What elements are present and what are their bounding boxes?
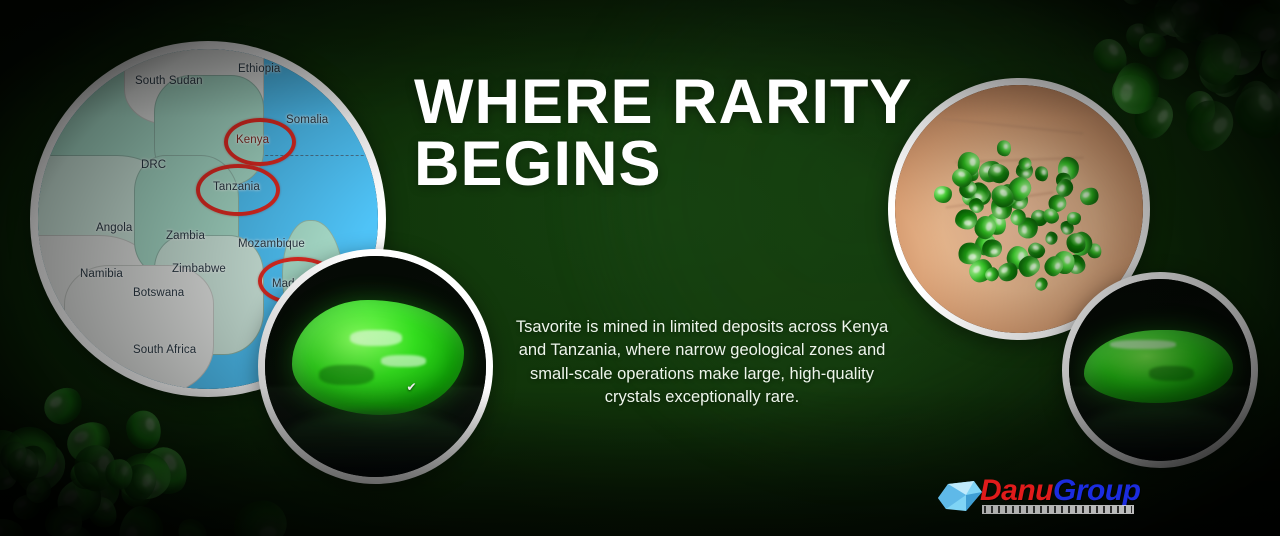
brand-logo[interactable]: DanuGroup <box>936 472 1136 528</box>
logo-name-part1: Danu <box>980 474 1053 507</box>
logo-name-part2: Group <box>1053 474 1141 507</box>
promo-banner: South SudanEthiopiaSomaliaKenyaDRCTanzan… <box>0 0 1280 536</box>
gem-icon <box>936 478 986 514</box>
logo-tagline-text <box>984 506 1132 513</box>
logo-tagline-strip <box>982 505 1134 514</box>
body-paragraph: Tsavorite is mined in limited deposits a… <box>512 316 892 410</box>
page-title: WHERE RARITY BEGINS <box>414 72 934 195</box>
headline-line-1: WHERE RARITY <box>414 67 913 137</box>
logo-wordmark: DanuGroup <box>980 474 1141 508</box>
headline-line-2: BEGINS <box>414 134 934 196</box>
